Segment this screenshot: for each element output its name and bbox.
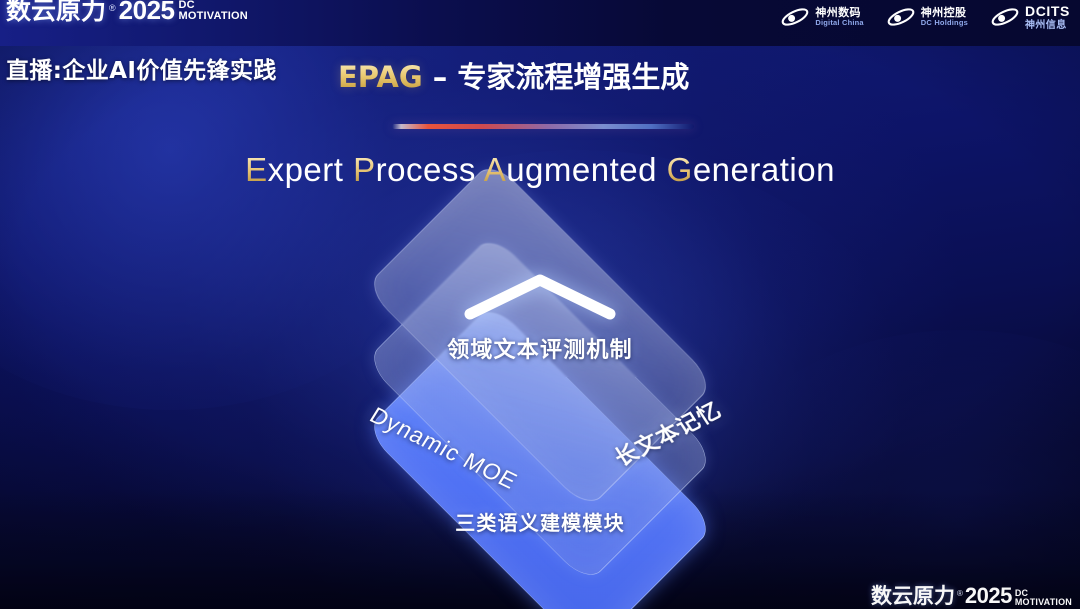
expansion-word-augmented: ugmented bbox=[506, 151, 666, 188]
partner-logo-en: DC Holdings bbox=[921, 19, 968, 27]
swoosh-logo-icon bbox=[780, 6, 810, 28]
partner-logo-dcits: DCITS 神州信息 bbox=[990, 4, 1070, 31]
slide-canvas: 领域文本评测机制 Dynamic MOE 长文本记忆 三类语义建模模块 数云原力… bbox=[0, 0, 1080, 609]
brand-dc-line2: MOTIVATION bbox=[179, 11, 248, 22]
partner-logo-group: 神州数码 Digital China 神州控股 DC Holdings bbox=[780, 4, 1070, 31]
footer-watermark-logo: 数云原力 ® 2025 DC MOTIVATION bbox=[871, 585, 1072, 607]
brand-year: 2025 bbox=[119, 0, 175, 23]
expansion-word-expert: xpert bbox=[268, 151, 354, 188]
event-brand-logo: 数云原力 ® 2025 DC MOTIVATION bbox=[6, 0, 248, 23]
page-title: EPAG – 专家流程增强生成 bbox=[338, 54, 689, 96]
title-subtitle-cn: – 专家流程增强生成 bbox=[423, 60, 690, 94]
expansion-word-generation: eneration bbox=[693, 151, 835, 188]
expansion-initial-p: P bbox=[353, 151, 376, 188]
partner-logo-en: Digital China bbox=[815, 19, 863, 27]
swoosh-logo-icon bbox=[990, 6, 1020, 28]
layer-label-top: 领域文本评测机制 bbox=[0, 332, 1080, 364]
partner-logo-dc-holdings: 神州控股 DC Holdings bbox=[886, 6, 968, 28]
title-acronym: EPAG bbox=[338, 60, 423, 94]
layer-label-bottom: 三类语义建模模块 bbox=[0, 507, 1080, 536]
watermark-year: 2025 bbox=[965, 585, 1012, 607]
expansion-initial-g: G bbox=[667, 151, 693, 188]
expansion-initial-e: E bbox=[245, 151, 268, 188]
watermark-dc-line2: MOTIVATION bbox=[1015, 598, 1072, 607]
brand-name-cn: 数云原力 bbox=[6, 0, 106, 23]
expansion-initial-a: A bbox=[484, 151, 507, 188]
partner-logo-digital-china: 神州数码 Digital China bbox=[780, 6, 863, 28]
partner-logo-en: DCITS bbox=[1025, 4, 1070, 20]
gradient-divider bbox=[392, 124, 694, 129]
live-stream-title: 直播:企业AI价值先锋实践 bbox=[6, 51, 277, 85]
registered-mark-icon: ® bbox=[957, 589, 963, 598]
expansion-word-process: rocess bbox=[376, 151, 484, 188]
acronym-expansion: Expert Process Augmented Generation bbox=[0, 151, 1080, 189]
watermark-dc-motivation: DC MOTIVATION bbox=[1015, 589, 1072, 607]
watermark-brand-cn: 数云原力 bbox=[871, 586, 955, 607]
registered-mark-icon: ® bbox=[109, 4, 116, 13]
partner-logo-cn: 神州信息 bbox=[1025, 20, 1070, 31]
chevron-up-icon bbox=[460, 270, 620, 322]
swoosh-logo-icon bbox=[886, 6, 916, 28]
brand-dc-motivation: DC MOTIVATION bbox=[179, 0, 248, 22]
